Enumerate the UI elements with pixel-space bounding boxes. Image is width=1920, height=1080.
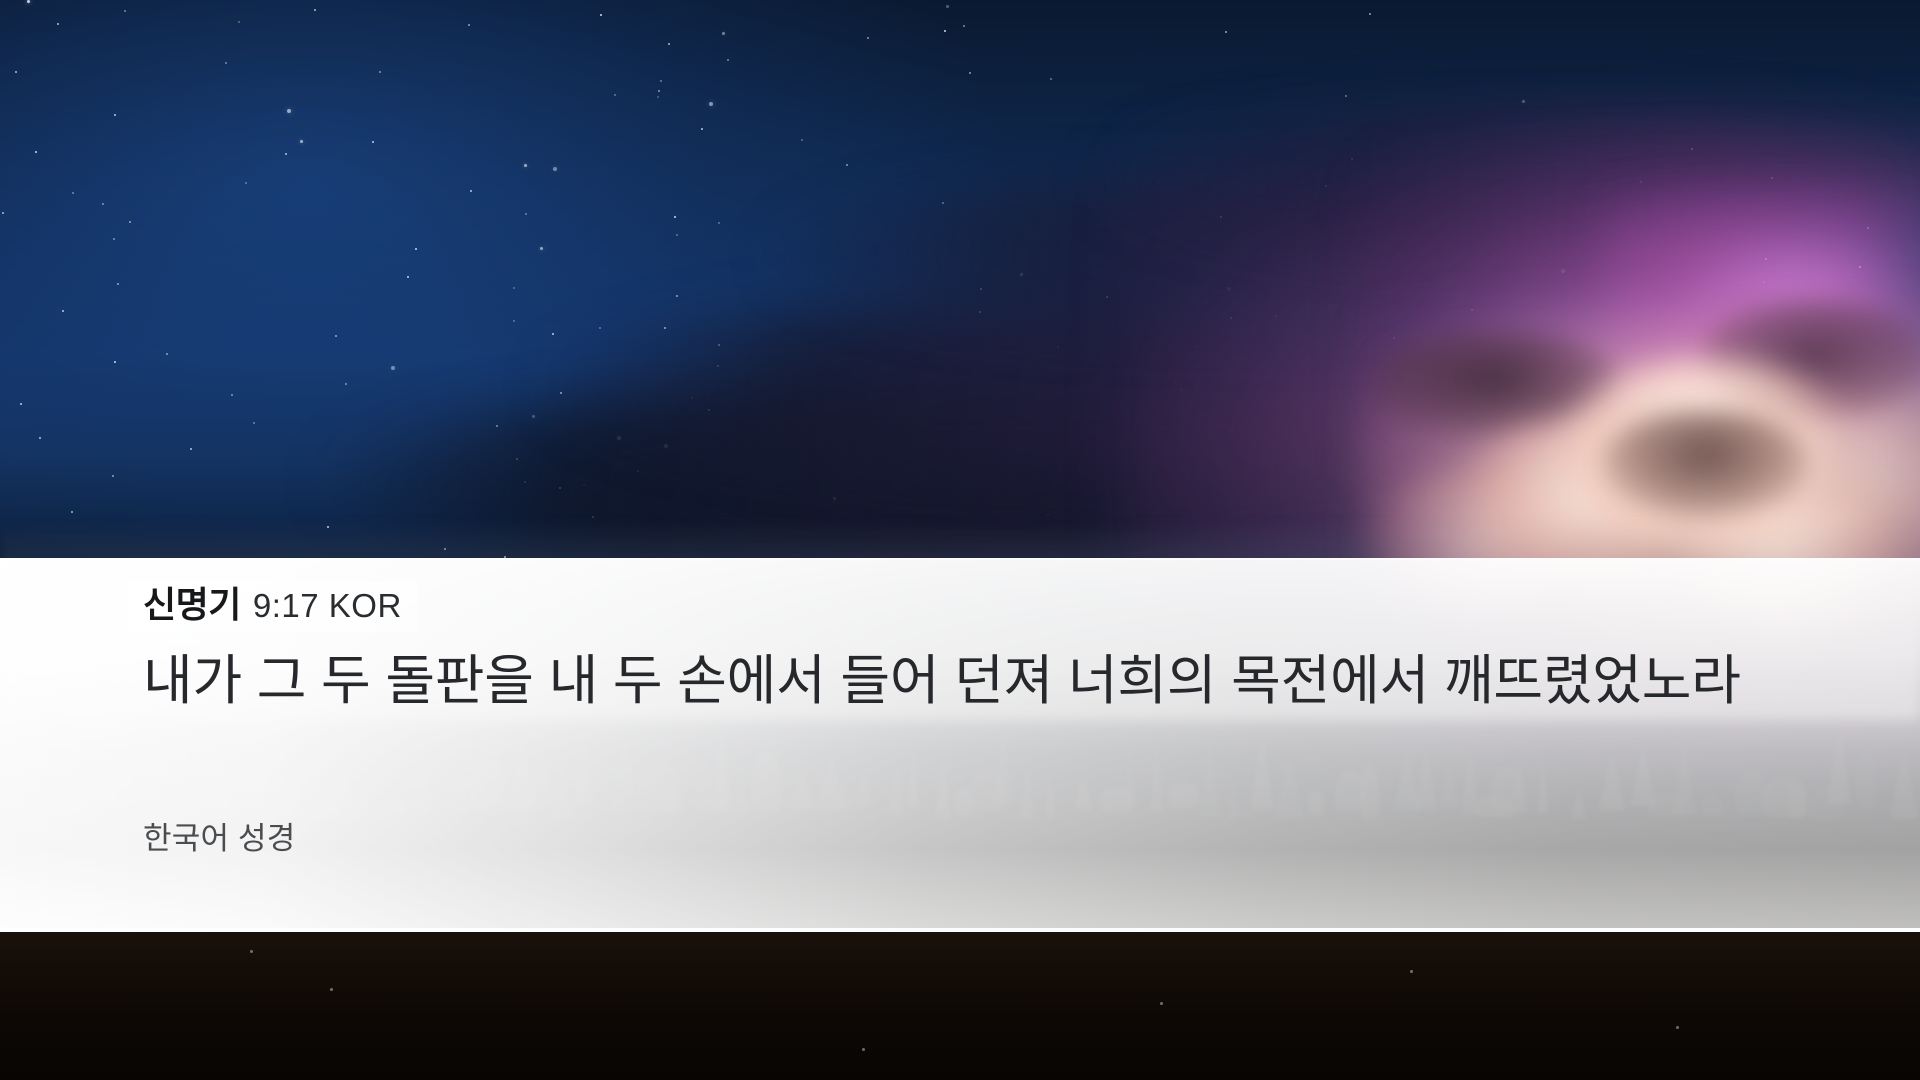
- foreground-light: [1676, 1026, 1679, 1029]
- verse-text: 내가 그 두 돌판을 내 두 손에서 들어 던져 너희의 목전에서 깨뜨렸었노라: [143, 650, 1778, 714]
- verse-image-canvas: 신명기 9:17 KOR 내가 그 두 돌판을 내 두 손에서 들어 던져 너희…: [0, 0, 1920, 1080]
- verse-panel: 신명기 9:17 KOR 내가 그 두 돌판을 내 두 손에서 들어 던져 너희…: [0, 558, 1920, 932]
- scripture-reference: 신명기 9:17 KOR: [127, 581, 418, 632]
- foreground-light: [1410, 970, 1413, 973]
- dark-cloud-puff-a: [1600, 410, 1810, 520]
- reference-chapter-verse-translation: 9:17 KOR: [253, 589, 402, 622]
- foreground-light: [330, 988, 333, 991]
- foreground-light: [862, 1048, 865, 1051]
- dark-foreground: [0, 930, 1920, 1080]
- reference-book-name: 신명기: [143, 587, 241, 623]
- panel-content: 신명기 9:17 KOR 내가 그 두 돌판을 내 두 손에서 들어 던져 너희…: [143, 558, 1920, 932]
- translation-name: 한국어 성경: [143, 813, 295, 858]
- foreground-light: [250, 950, 253, 953]
- foreground-light: [1160, 1002, 1163, 1005]
